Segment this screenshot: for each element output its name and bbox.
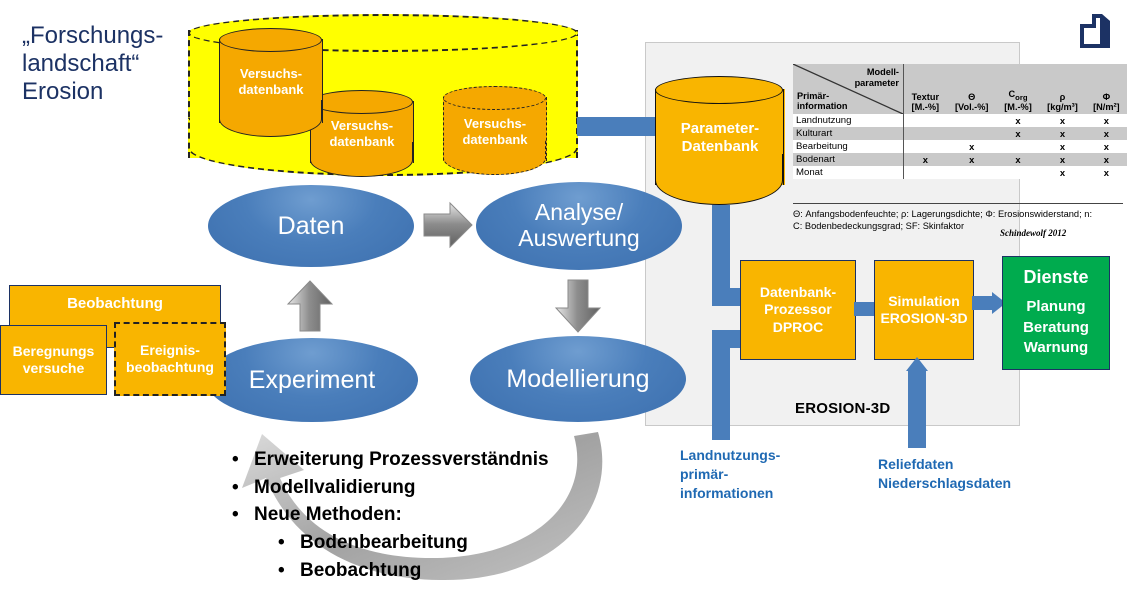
table-corner-modelparam: Modell- parameter	[855, 67, 899, 88]
table-col-rho: ρ [kg/m³]	[1039, 64, 1085, 114]
bullet-icon: •	[232, 501, 254, 529]
arrow-experiment-to-daten	[285, 279, 335, 333]
parameter-table-body: Landnutzung x x x Kulturart x x x Bearbe	[793, 114, 1127, 179]
services-list: Planung Beratung Warnung	[1003, 297, 1109, 358]
bullet-icon: •	[232, 474, 254, 502]
list-item: •Bodenbearbeitung	[232, 529, 652, 557]
table-row: Landnutzung x x x	[793, 114, 1127, 127]
list-item: •Neue Methoden:	[232, 501, 652, 529]
arrow-relief-to-simulation-vertical	[908, 370, 926, 448]
table-row: Kulturart x x x	[793, 127, 1127, 140]
versuchsdatenbank-cylinder-3: Versuchs- datenbank	[443, 86, 547, 176]
simulation-box: Simulation EROSION-3D	[874, 260, 974, 360]
key-outcomes-list: •Erweiterung Prozessverständnis •Modellv…	[232, 446, 652, 585]
parameter-database-label: Parameter- Datenbank	[655, 120, 785, 157]
bullet-icon: •	[232, 446, 254, 474]
ereignisbeobachtung-box: Ereignis- beobachtung	[114, 322, 226, 396]
parameter-database-cylinder: Parameter- Datenbank	[655, 76, 785, 211]
input-label-relief: Reliefdaten Niederschlagsdaten	[878, 455, 1058, 493]
cycle-node-daten: Daten	[208, 185, 414, 267]
table-col-theta: Θ [Vol.-%]	[947, 64, 997, 114]
dproc-box: Datenbank- Prozessor DPROC	[740, 260, 856, 360]
table-footnote: Θ: Anfangsbodenfeuchte; ρ: Lagerungsdich…	[793, 208, 1127, 232]
list-item: •Erweiterung Prozessverständnis	[232, 446, 652, 474]
institution-logo-icon	[1078, 12, 1112, 50]
table-row: Bodenart x x x x x	[793, 153, 1127, 166]
page-title-line3: Erosion	[22, 78, 212, 106]
page-title-line2: landschaft“	[22, 50, 212, 78]
arrow-parameterdb-to-dproc-vertical	[712, 205, 730, 297]
table-col-textur: Textur [M.-%]	[904, 64, 947, 114]
page-title: „Forschungs- landschaft“ Erosion	[22, 22, 212, 106]
bullet-icon: •	[278, 529, 300, 557]
list-item: •Modellvalidierung	[232, 474, 652, 502]
arrow-head-relief-to-simulation	[906, 357, 928, 371]
input-label-landnutzung: Landnutzungs- primär- informationen	[680, 446, 810, 503]
table-source-citation: Schindewolf 2012	[1000, 228, 1066, 238]
erosion3d-panel-label: EROSION-3D	[795, 400, 890, 417]
versuchsdatenbank-label-3: Versuchs- datenbank	[443, 116, 547, 148]
beregnungsversuche-box: Beregnungs versuche	[0, 325, 107, 395]
services-title: Dienste	[1003, 266, 1109, 289]
cycle-node-experiment: Experiment	[206, 338, 418, 422]
versuchsdatenbank-label-2: Versuchs- datenbank	[310, 118, 414, 150]
table-corner-primaerinfo: Primär- information	[797, 91, 848, 112]
arrow-daten-to-analyse	[422, 200, 474, 250]
versuchsdatenbank-cylinder-2: Versuchs- datenbank	[310, 90, 414, 178]
parameter-table: Modell- parameter Primär- information Te…	[793, 64, 1127, 179]
cycle-node-modellierung: Modellierung	[470, 336, 686, 422]
arrow-simulation-to-services	[972, 296, 994, 310]
model-parameter-table: Modell- parameter Primär- information Te…	[793, 64, 1127, 179]
table-row: Bearbeitung x x x	[793, 140, 1127, 153]
versuchsdatenbank-cylinder-1: Versuchs- datenbank	[219, 28, 323, 138]
table-col-corg: Corg [M.-%]	[997, 64, 1040, 114]
list-item: •Beobachtung	[232, 557, 652, 585]
table-note-divider	[793, 203, 1123, 204]
versuchsdatenbank-label-1: Versuchs- datenbank	[219, 66, 323, 98]
bullet-icon: •	[278, 557, 300, 585]
table-row: Monat x x	[793, 166, 1127, 179]
cycle-node-analyse: Analyse/ Auswertung	[476, 182, 682, 270]
services-box: Dienste Planung Beratung Warnung	[1002, 256, 1110, 370]
page-title-line1: „Forschungs-	[22, 22, 212, 50]
diagram-canvas: EROSION-3D „Forschungs- landschaft“ Eros…	[0, 0, 1127, 600]
arrow-analyse-to-modellierung	[553, 278, 603, 334]
table-corner-header: Modell- parameter Primär- information	[793, 64, 904, 114]
table-col-phi: Φ [N/m²]	[1086, 64, 1127, 114]
arrow-versuchsdb-to-parameterdb	[577, 117, 661, 136]
arrow-dproc-to-simulation	[854, 302, 876, 316]
